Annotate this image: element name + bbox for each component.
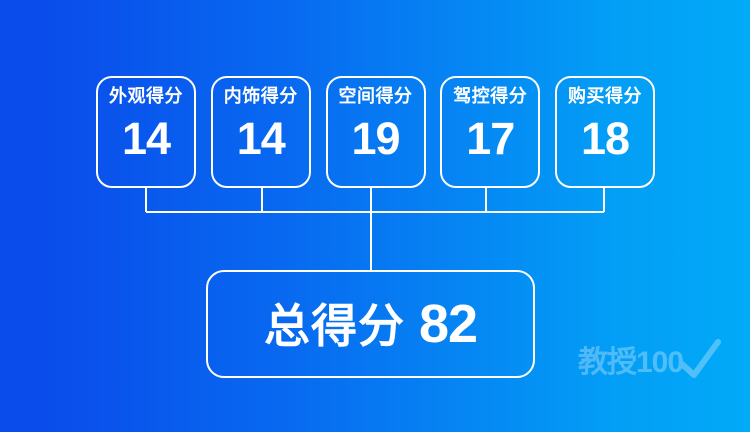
category-box-space[interactable]: 空间得分 19 [326, 76, 426, 188]
category-value: 17 [466, 116, 514, 161]
category-box-appearance[interactable]: 外观得分 14 [96, 76, 196, 188]
category-box-driving[interactable]: 驾控得分 17 [440, 76, 540, 188]
score-summary-card: 外观得分 14 内饰得分 14 空间得分 19 驾控得分 17 购买得分 18 … [0, 0, 750, 432]
brand-watermark: 教授100 [578, 342, 728, 388]
total-score-content: 总得分 82 [264, 297, 477, 351]
watermark-label: 教授100 [578, 348, 683, 378]
total-score-box[interactable]: 总得分 82 [206, 270, 535, 378]
category-value: 14 [122, 116, 170, 161]
total-score-label: 总得分 [264, 303, 405, 349]
category-label: 外观得分 [109, 87, 183, 107]
category-value: 19 [351, 116, 399, 161]
category-box-purchase[interactable]: 购买得分 18 [555, 76, 655, 188]
category-score-row: 外观得分 14 内饰得分 14 空间得分 19 驾控得分 17 购买得分 18 [96, 76, 655, 188]
checkmark-icon [674, 338, 722, 384]
category-label: 购买得分 [568, 87, 642, 107]
category-label: 内饰得分 [224, 87, 298, 107]
total-score-value: 82 [419, 297, 477, 351]
category-value: 18 [581, 116, 629, 161]
category-value: 14 [237, 116, 285, 161]
category-label: 空间得分 [339, 87, 413, 107]
category-label: 驾控得分 [453, 87, 527, 107]
category-box-interior[interactable]: 内饰得分 14 [211, 76, 311, 188]
